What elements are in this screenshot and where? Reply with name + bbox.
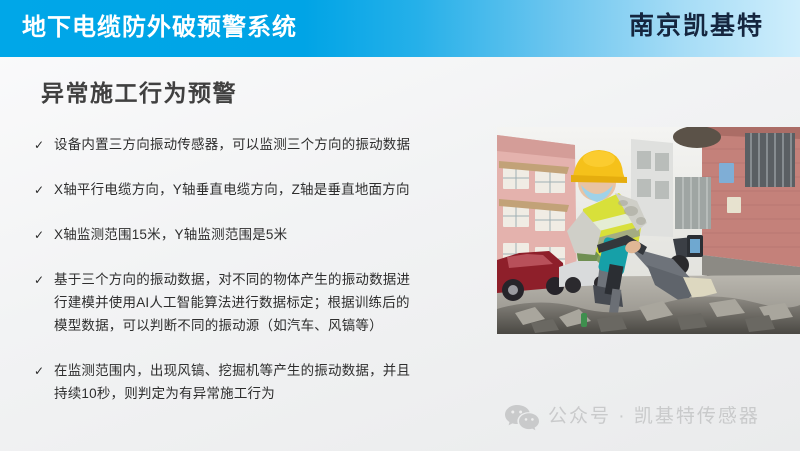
wechat-icon: [505, 403, 539, 431]
list-item-line: 在监测范围内，出现风镐、挖掘机等产生的振动数据，并且: [54, 359, 496, 382]
construction-worker-photo: [497, 127, 800, 334]
list-item: ✓ 基于三个方向的振动数据，对不同的物体产生的振动数据进 行建模并使用AI人工智…: [34, 268, 496, 337]
list-item-line: 模型数据，可以判断不同的振动源（如汽车、风镐等）: [54, 314, 496, 337]
section-heading: 异常施工行为预警: [41, 74, 237, 108]
list-item: ✓ X轴监测范围15米，Y轴监测范围是5米: [34, 223, 496, 247]
checkmark-icon: ✓: [34, 268, 54, 292]
list-item: ✓ 设备内置三方向振动传感器，可以监测三个方向的振动数据: [34, 133, 496, 157]
page-title: 地下电缆防外破预警系统: [22, 12, 297, 44]
brand-logo-text: 南京凯基特: [629, 10, 764, 44]
list-item: ✓ 在监测范围内，出现风镐、挖掘机等产生的振动数据，并且 持续10秒，则判定为有…: [34, 359, 496, 405]
list-item-text: 在监测范围内，出现风镐、挖掘机等产生的振动数据，并且 持续10秒，则判定为有异常…: [54, 359, 496, 405]
slide: 地下电缆防外破预警系统 南京凯基特 异常施工行为预警 ✓ 设备内置三方向振动传感…: [0, 0, 800, 451]
list-item-line: 设备内置三方向振动传感器，可以监测三个方向的振动数据: [54, 133, 496, 156]
list-item-text: X轴平行电缆方向，Y轴垂直电缆方向，Z轴是垂直地面方向: [54, 178, 496, 201]
list-item-text: 基于三个方向的振动数据，对不同的物体产生的振动数据进 行建模并使用AI人工智能算…: [54, 268, 496, 337]
list-item: ✓ X轴平行电缆方向，Y轴垂直电缆方向，Z轴是垂直地面方向: [34, 178, 496, 202]
bullet-list: ✓ 设备内置三方向振动传感器，可以监测三个方向的振动数据 ✓ X轴平行电缆方向，…: [34, 133, 496, 425]
header-band: 地下电缆防外破预警系统 南京凯基特: [0, 0, 800, 57]
checkmark-icon: ✓: [34, 178, 54, 202]
watermark: 公众号 · 凯基特传感器: [505, 403, 760, 431]
list-item-line: X轴监测范围15米，Y轴监测范围是5米: [54, 223, 496, 246]
watermark-text: 公众号 · 凯基特传感器: [548, 403, 760, 431]
list-item-line: X轴平行电缆方向，Y轴垂直电缆方向，Z轴是垂直地面方向: [54, 178, 496, 201]
checkmark-icon: ✓: [34, 133, 54, 157]
list-item-line: 行建模并使用AI人工智能算法进行数据标定；根据训练后的: [54, 291, 496, 314]
list-item-line: 持续10秒，则判定为有异常施工行为: [54, 382, 496, 405]
checkmark-icon: ✓: [34, 359, 54, 383]
list-item-text: 设备内置三方向振动传感器，可以监测三个方向的振动数据: [54, 133, 496, 156]
list-item-text: X轴监测范围15米，Y轴监测范围是5米: [54, 223, 496, 246]
list-item-line: 基于三个方向的振动数据，对不同的物体产生的振动数据进: [54, 268, 496, 291]
checkmark-icon: ✓: [34, 223, 54, 247]
